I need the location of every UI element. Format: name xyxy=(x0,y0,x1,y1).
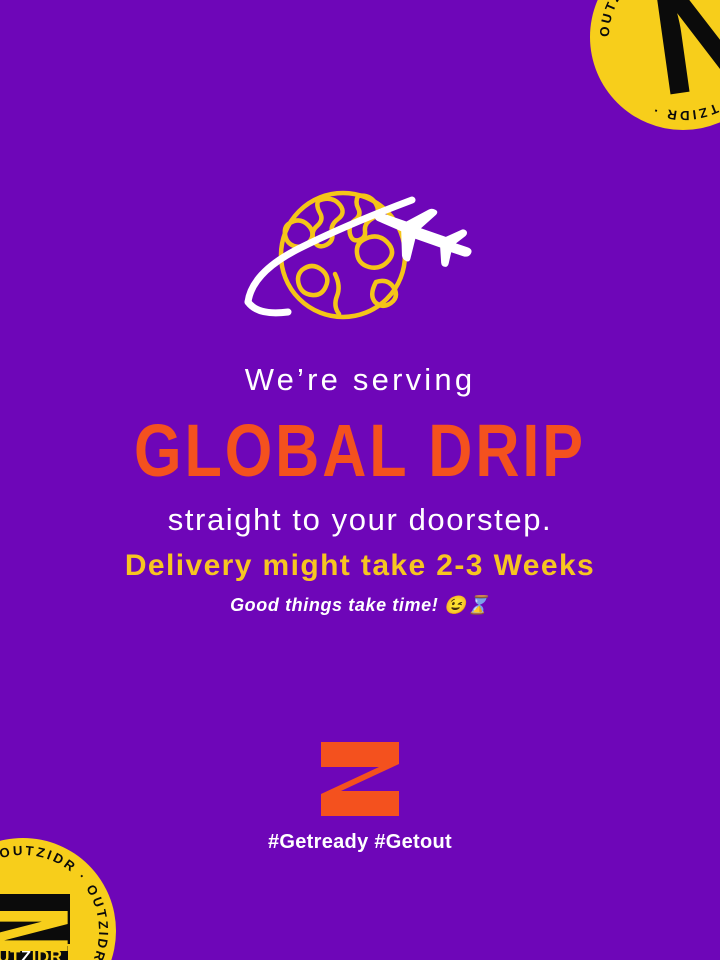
hero-illustration xyxy=(0,178,720,338)
headline-block: We’re serving GLOBAL DRIP straight to yo… xyxy=(0,362,720,538)
z-logo-icon xyxy=(321,742,399,816)
brand-logo xyxy=(321,742,399,816)
delivery-estimate: Delivery might take 2-3 Weeks xyxy=(0,548,720,584)
outzidr-seal-bottom-left: OUTZIDR · OUTZIDR · OUTZIDR · OUTZIDR · … xyxy=(0,838,116,960)
outzidr-seal-top-right: OUTZIDR · OUTZIDR · OUTZIDR · OUTZIDR · … xyxy=(590,0,720,130)
seal-center-lockup: OUTZIDR xyxy=(0,894,70,960)
delivery-tagline: Good things take time! 😉⌛ xyxy=(0,584,720,617)
delivery-block: Delivery might take 2-3 Weeks Good thing… xyxy=(0,548,720,617)
seal-z-mark xyxy=(0,894,70,944)
headline-main: GLOBAL DRIP xyxy=(11,398,709,498)
poster-canvas: OUTZIDR · OUTZIDR · OUTZIDR · OUTZIDR · … xyxy=(0,0,720,960)
footer-block: #Getready #Getout xyxy=(0,742,720,854)
brand-hashtags: #Getready #Getout xyxy=(268,816,452,854)
headline-kicker: We’re serving xyxy=(0,362,720,398)
globe-airplane-icon xyxy=(240,178,480,338)
z-logo-icon xyxy=(0,894,70,960)
